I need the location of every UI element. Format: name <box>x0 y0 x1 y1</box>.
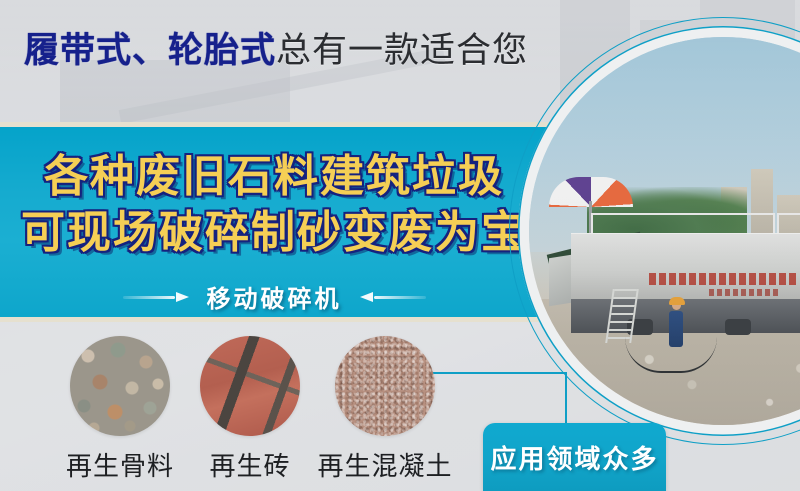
headline-band: 各种废旧石料建筑垃圾 可现场破碎制砂变废为宝 移动破碎机 <box>0 122 548 322</box>
headline-subtitle-row: 移动破碎机 <box>0 279 548 314</box>
product-item-aggregate[interactable]: 再生骨料 <box>40 336 200 483</box>
promo-banner: 履带式、轮胎式总有一款适合您 各种废旧石料建筑垃圾 可现场破碎制砂变废为宝 移动… <box>0 0 800 491</box>
arrow-right-decoration <box>123 292 189 302</box>
recycled-brick-photo <box>200 336 300 436</box>
arrow-left-decoration <box>360 292 426 302</box>
mobile-crusher-jobsite-photo <box>529 37 800 425</box>
product-label-aggregate: 再生骨料 <box>40 446 200 483</box>
application-fields-badge-label: 应用领域众多 <box>483 439 666 476</box>
photo-shade-overlay <box>529 37 800 425</box>
headline-line-2: 可现场破碎制砂变废为宝 <box>0 211 548 255</box>
recycled-concrete-photo <box>335 336 435 436</box>
recycled-aggregate-photo <box>70 336 170 436</box>
application-fields-badge[interactable]: 应用领域众多 <box>483 423 666 491</box>
connector-line-vertical <box>565 372 567 423</box>
banner-top-title-highlight: 履带式、轮胎式 <box>24 31 276 70</box>
banner-top-title: 履带式、轮胎式总有一款适合您 <box>24 33 528 68</box>
headline-line-1: 各种废旧石料建筑垃圾 <box>0 155 548 199</box>
product-item-brick[interactable]: 再生砖 <box>185 336 315 483</box>
headline-subtitle: 移动破碎机 <box>207 279 342 314</box>
product-item-concrete[interactable]: 再生混凝土 <box>305 336 465 483</box>
product-label-concrete: 再生混凝土 <box>305 446 465 483</box>
hero-photo-circle <box>518 26 800 436</box>
product-label-brick: 再生砖 <box>185 446 315 483</box>
banner-top-title-rest: 总有一款适合您 <box>276 31 528 70</box>
